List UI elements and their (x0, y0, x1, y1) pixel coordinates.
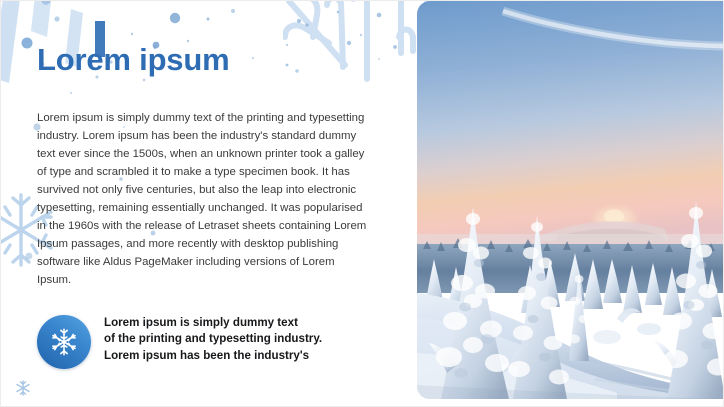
page-title: Lorem ipsum (37, 43, 229, 77)
body-paragraph: Lorem ipsum is simply dummy text of the … (37, 109, 367, 289)
feature-line-2: of the printing and typesetting industry… (104, 331, 322, 347)
feature-line-1: Lorem ipsum is simply dummy text (104, 315, 322, 331)
winter-forest-photo (417, 1, 724, 399)
feature-line-3: Lorem ipsum has been the industry's (104, 348, 322, 364)
content-column: Lorem ipsum Lorem ipsum is simply dummy … (1, 1, 417, 407)
winter-forest-illustration (417, 1, 724, 399)
feature-highlight-row: Lorem ipsum is simply dummy text of the … (37, 313, 322, 369)
feature-text-block: Lorem ipsum is simply dummy text of the … (104, 313, 322, 364)
snowflake-icon (49, 327, 79, 357)
slide-canvas: Lorem ipsum Lorem ipsum is simply dummy … (0, 0, 724, 407)
snowflake-badge (37, 315, 91, 369)
